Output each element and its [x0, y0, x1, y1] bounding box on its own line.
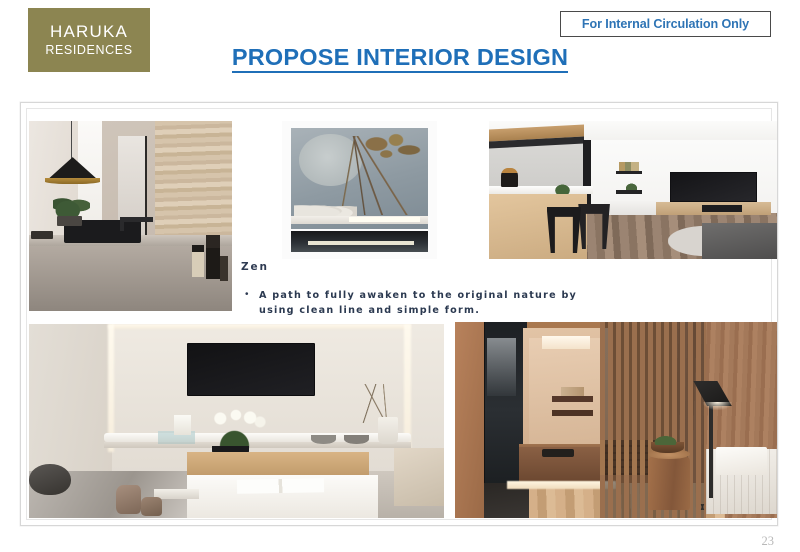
bathroom-stone-tray	[31, 231, 53, 239]
living-television	[187, 343, 316, 395]
living-stacked-books	[154, 489, 200, 499]
zen-bullet-marker: •	[241, 288, 259, 318]
artwork-pebbles	[294, 202, 357, 216]
image-minimalist-living-room	[29, 324, 444, 518]
image-bathroom-vanity	[29, 121, 232, 311]
bathroom-pendant-brass-rim	[45, 178, 100, 184]
slide-title-text: PROPOSE INTERIOR DESIGN	[232, 44, 568, 73]
living-wood-coffee-table	[187, 452, 370, 475]
zenroom-planter-foliage	[651, 434, 680, 446]
openplan-credenza-recess	[702, 205, 742, 212]
internal-circulation-notice-label: For Internal Circulation Only	[582, 17, 749, 31]
openplan-kitchen-island	[489, 190, 587, 259]
living-ceramic-vase	[378, 417, 399, 444]
bathroom-bonsai-pot	[57, 216, 81, 226]
zen-bullet-text: A path to fully awaken to the original n…	[259, 288, 581, 318]
bathroom-faucet-stem	[120, 218, 124, 231]
openplan-shelf-upper	[616, 171, 642, 175]
living-side-wall	[29, 324, 112, 479]
image-zen-artwork	[282, 121, 437, 259]
image-wood-slat-zen-room	[455, 322, 777, 518]
zenroom-shelf-upper	[552, 396, 594, 402]
zenroom-shelf-objects	[561, 387, 584, 397]
zenroom-floor-lamp-light	[703, 402, 732, 410]
openplan-grey-sofa	[702, 223, 777, 259]
openplan-shelf-lower	[616, 190, 642, 194]
zen-bullet-item: • A path to fully awaken to the original…	[241, 288, 581, 318]
living-bud-vase	[174, 415, 191, 434]
slide-title: PROPOSE INTERIOR DESIGN	[0, 44, 800, 71]
page-number: 23	[762, 534, 775, 549]
moodboard-frame: Zen • A path to fully awaken to the orig…	[20, 102, 778, 526]
bathroom-faucet-spout	[120, 217, 152, 222]
artwork-candle-lights	[349, 217, 420, 222]
openplan-counter-plant	[552, 182, 572, 194]
openplan-shelf-objects	[619, 162, 639, 170]
zen-heading: Zen	[241, 261, 581, 273]
moodboard-inner: Zen • A path to fully awaken to the orig…	[26, 108, 772, 520]
zenroom-glass-reflection	[487, 338, 516, 397]
openplan-counter-vase	[501, 168, 518, 187]
artwork-leaves	[357, 132, 422, 172]
living-dark-pouf	[29, 464, 71, 495]
living-cove-light-top	[108, 324, 411, 329]
artwork-canvas	[291, 128, 427, 229]
zenroom-shelf-lower	[552, 410, 594, 416]
zen-concept-text: Zen • A path to fully awaken to the orig…	[241, 261, 581, 318]
bathroom-bottle-2	[206, 235, 220, 279]
zenroom-wood-stump-table	[648, 457, 690, 510]
artwork-water-reflection	[291, 231, 427, 252]
bathroom-bottle-1	[192, 245, 203, 277]
zenroom-sofa-cushion	[716, 447, 768, 474]
brand-logo-name: HARUKA	[50, 23, 128, 41]
living-stone-sculpture-2	[141, 497, 162, 516]
living-stone-sculpture-1	[116, 485, 141, 514]
zenroom-skylight	[542, 336, 590, 350]
zenroom-wood-wall-left	[455, 322, 484, 518]
artwork-water-light-reflections	[308, 241, 414, 246]
living-dry-twigs	[340, 384, 411, 423]
bathroom-bonsai-foliage	[53, 193, 90, 218]
image-open-plan-living-kitchen	[489, 121, 777, 259]
bathroom-pendant-cord	[71, 121, 72, 163]
internal-circulation-notice: For Internal Circulation Only	[560, 11, 771, 37]
living-armchair	[394, 448, 444, 506]
bathroom-bottle-3	[220, 256, 228, 281]
openplan-island-countertop	[489, 186, 593, 194]
openplan-television	[670, 172, 756, 202]
zenroom-sunken-recess	[542, 449, 574, 457]
living-open-book	[236, 478, 323, 493]
